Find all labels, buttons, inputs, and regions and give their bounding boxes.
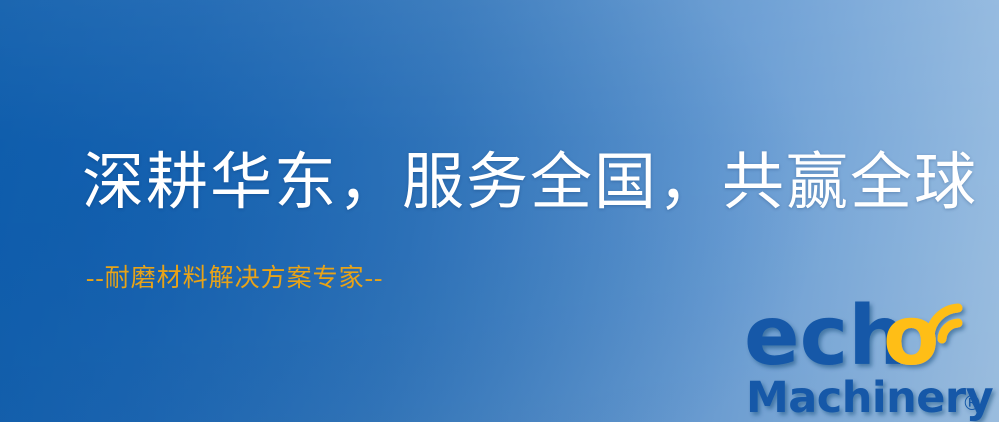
company-logo: ech o Machinery ®: [744, 292, 999, 422]
logo-registered-mark: ®: [962, 391, 982, 415]
banner-subtitle: --耐磨材料解决方案专家--: [86, 266, 383, 291]
banner-headline: 深耕华东，服务全国，共赢全球: [82, 152, 978, 214]
promo-banner: 深耕华东，服务全国，共赢全球 --耐磨材料解决方案专家-- ech o Mach…: [0, 0, 999, 422]
logo-machinery-text: Machinery: [746, 373, 994, 422]
